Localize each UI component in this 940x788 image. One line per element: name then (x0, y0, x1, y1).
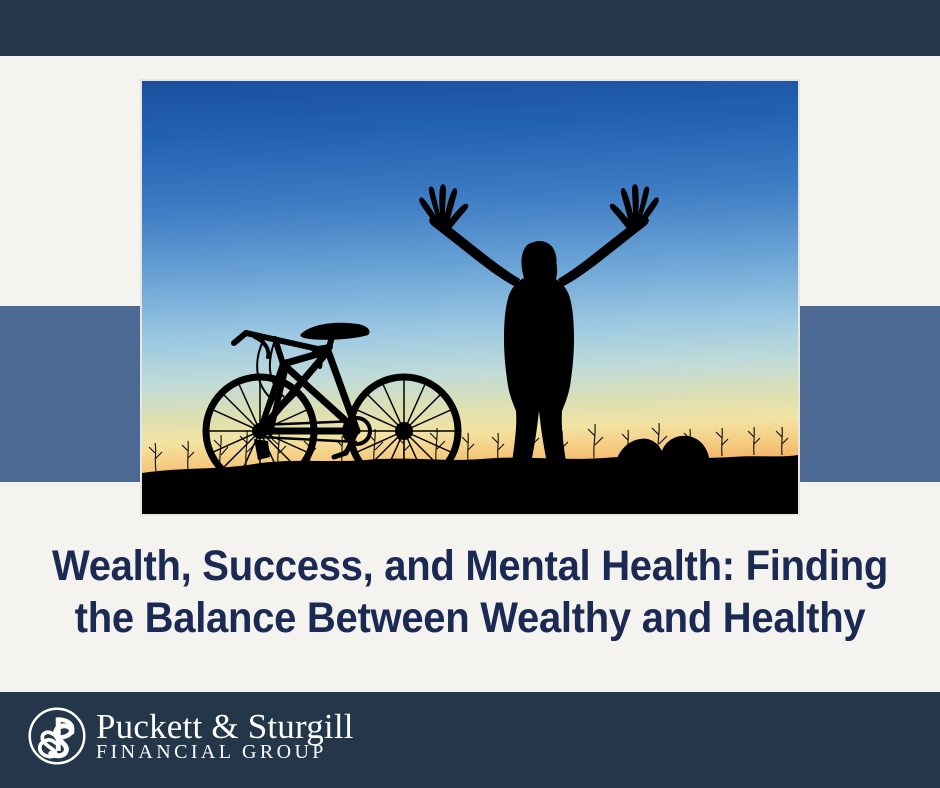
brand-wordmark: Puckett & Sturgill FINANCIAL GROUP (96, 710, 354, 763)
page-title: Wealth, Success, and Mental Health: Find… (33, 540, 907, 644)
company-name: Puckett & Sturgill (96, 710, 354, 744)
top-accent-bar (0, 0, 940, 56)
ps-monogram-icon (26, 705, 88, 767)
company-tagline: FINANCIAL GROUP (96, 742, 354, 763)
social-share-card: Wealth, Success, and Mental Health: Find… (0, 0, 940, 788)
hero-photo-illustration (142, 81, 798, 514)
page-title-line-2: the Balance Between Wealthy and Healthy (33, 592, 907, 644)
brand-logo: Puckett & Sturgill FINANCIAL GROUP (26, 702, 354, 770)
hero-photo (142, 81, 798, 514)
page-title-line-1: Wealth, Success, and Mental Health: Find… (33, 540, 907, 592)
